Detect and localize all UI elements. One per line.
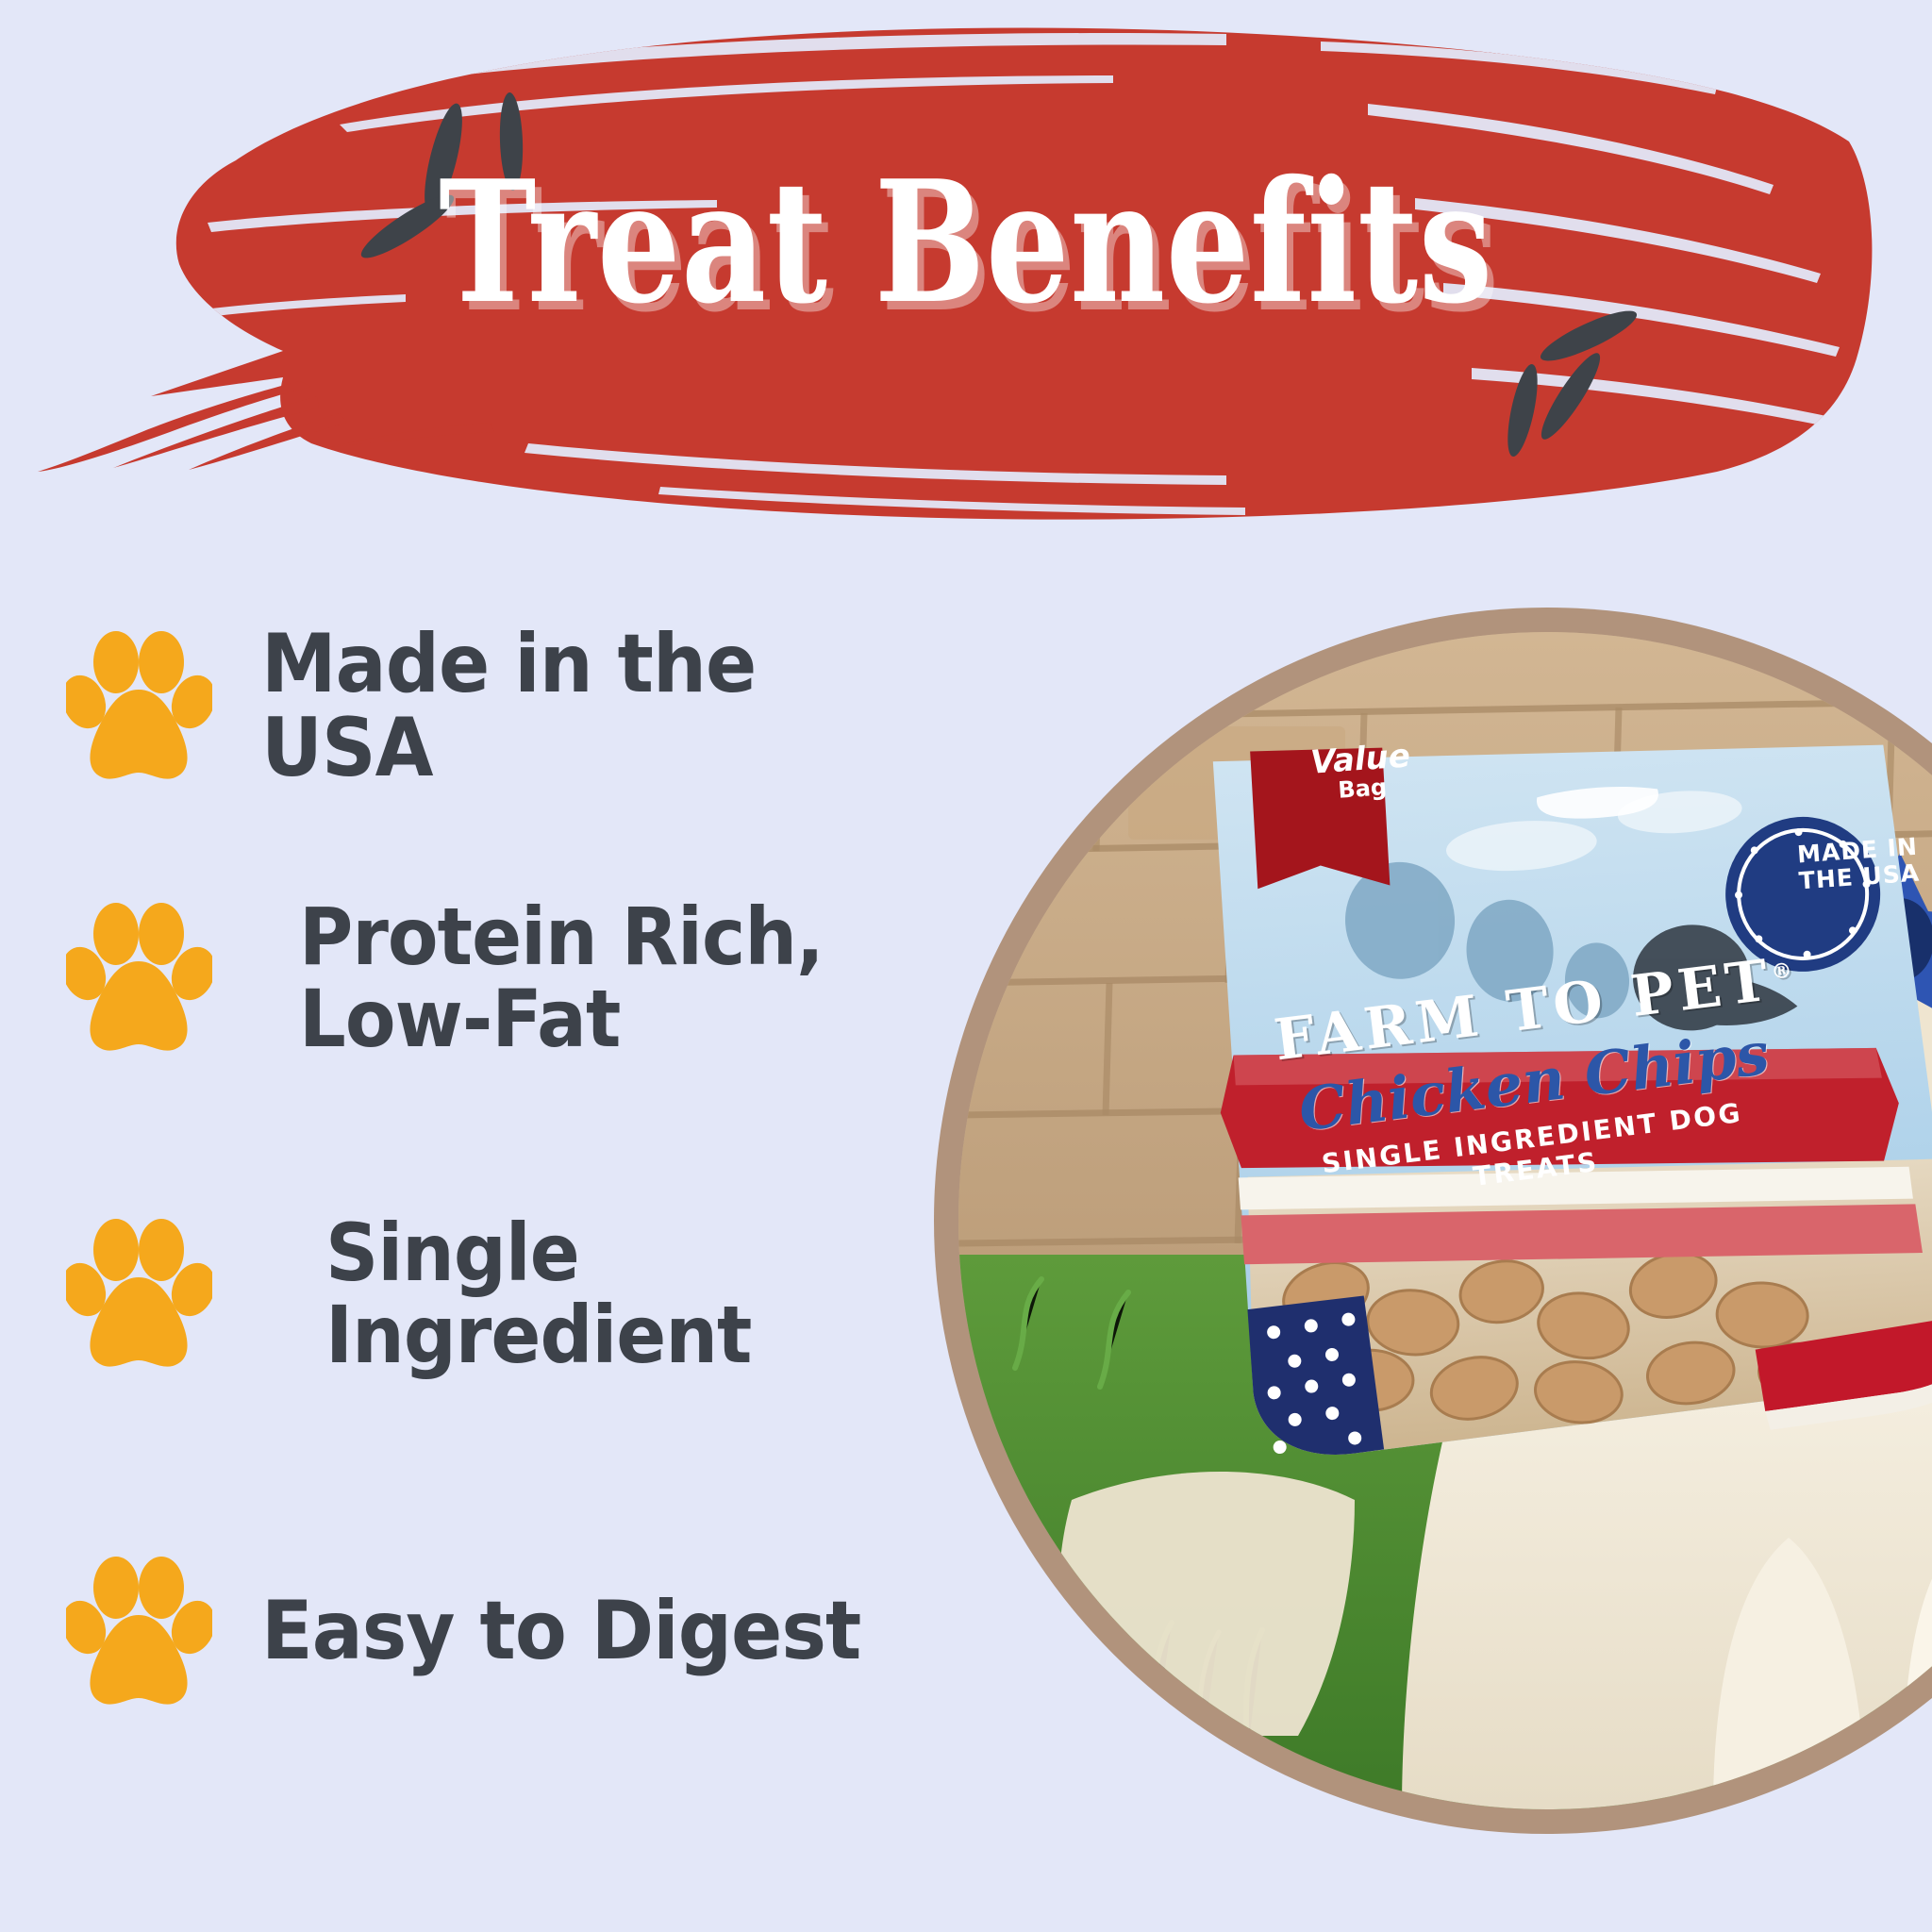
paw-icon [66,903,212,1054]
header-banner: Treat Benefits [0,0,1932,528]
paw-icon [66,631,212,782]
benefit-label: Made in the USA [261,623,913,791]
benefit-label: Protein Rich, Low-Fat [299,896,824,1061]
benefit-item-easy-to-digest: Easy to Digest [66,1557,906,1707]
product-photo: Value Bag MADE IN THE USA FARM TO PET® C… [958,632,1932,1809]
benefit-item-single-ingredient: Single Ingredient [66,1212,783,1377]
product-photo-frame: Value Bag MADE IN THE USA FARM TO PET® C… [934,608,1932,1834]
package-value-tag: Value Bag [1298,740,1424,806]
photo-illustration [958,632,1932,1809]
package-made-in-usa-seal: MADE IN THE USA [1787,833,1930,895]
paw-icon [66,1219,212,1370]
benefit-item-made-in-usa: Made in the USA [66,623,962,791]
paw-icon [66,1557,212,1707]
benefit-item-protein-rich-low-fat: Protein Rich, Low-Fat [66,896,863,1061]
photo-scene: Value Bag MADE IN THE USA FARM TO PET® C… [958,632,1932,1809]
poster-canvas: Treat Benefits Made in the USA [0,0,1932,1932]
benefit-label: Single Ingredient [325,1212,751,1377]
benefit-label: Easy to Digest [261,1590,860,1674]
benefits-list: Made in the USA Protein Rich, Low-Fat [0,604,962,1858]
page-title: Treat Benefits [212,158,1719,326]
